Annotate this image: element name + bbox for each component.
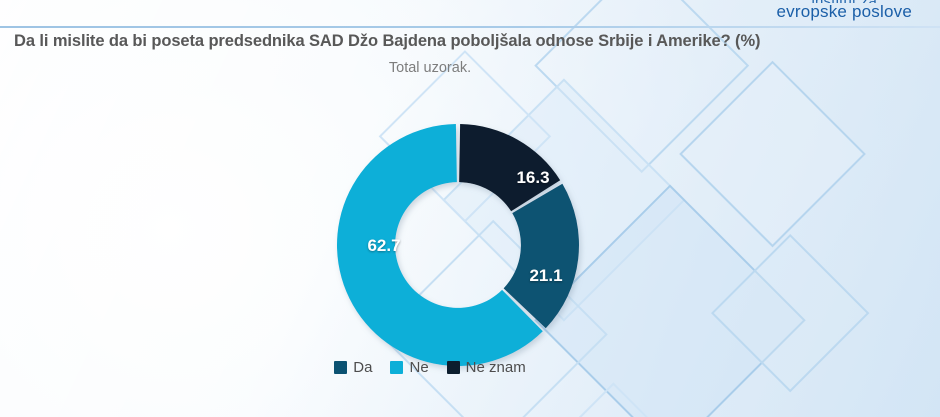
data-label-ne: 62.7 <box>367 236 400 256</box>
legend-item[interactable]: Ne <box>390 359 428 376</box>
chart-subtitle: Total uzorak. <box>0 60 940 76</box>
legend-item[interactable]: Da <box>334 359 372 376</box>
data-label-da: 21.1 <box>529 266 562 286</box>
legend-label: Ne <box>409 359 428 376</box>
legend-swatch-icon <box>390 361 403 374</box>
legend-label: Da <box>353 359 372 376</box>
legend-item[interactable]: Ne znam <box>447 359 526 376</box>
chart-legend: DaNeNe znam <box>0 359 940 376</box>
chart-title: Da li mislite da bi poseta predsednika S… <box>14 32 760 51</box>
data-label-ne-znam: 16.3 <box>516 168 549 188</box>
legend-swatch-icon <box>334 361 347 374</box>
legend-label: Ne znam <box>466 359 526 376</box>
legend-swatch-icon <box>447 361 460 374</box>
